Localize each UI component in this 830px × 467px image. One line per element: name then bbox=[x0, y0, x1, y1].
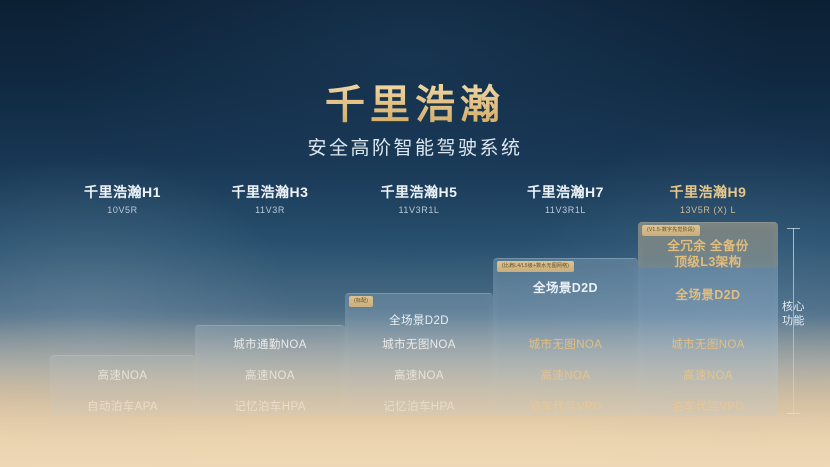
column-tag-5: (V1.5-数字先觉阶段) bbox=[642, 225, 700, 236]
feature-cell: 城市通勤NOA bbox=[195, 336, 345, 352]
feature-cell: 城市无图NOA bbox=[493, 336, 638, 352]
column-header-5: 千里浩瀚H913V5R (X) L bbox=[638, 182, 778, 215]
column-name: 千里浩瀚H7 bbox=[493, 182, 638, 202]
core-function-label: 核心 功能 bbox=[782, 300, 808, 328]
feature-cell: 自动泊车APA bbox=[50, 398, 195, 414]
column-name: 千里浩瀚H1 bbox=[50, 182, 195, 202]
core-function-label-line2: 功能 bbox=[782, 314, 808, 328]
page-subtitle: 安全高阶智能驾驶系统 bbox=[0, 133, 830, 160]
feature-cell: 高速NOA bbox=[345, 367, 493, 383]
axis-cap-bottom bbox=[787, 413, 800, 414]
feature-cell: 高速NOA bbox=[638, 367, 778, 383]
column-name: 千里浩瀚H9 bbox=[638, 182, 778, 202]
slide-canvas: 千里浩瀚 安全高阶智能驾驶系统 千里浩瀚H110V5R高速NOA自动泊车APA千… bbox=[0, 0, 830, 467]
page-title: 千里浩瀚 bbox=[0, 72, 830, 130]
column-tag-4: (比肩L4/L5级+数水无图网络) bbox=[497, 261, 574, 272]
column-spec: 10V5R bbox=[50, 205, 195, 215]
column-tag-3: (标配) bbox=[349, 296, 373, 307]
column-name: 千里浩瀚H3 bbox=[195, 182, 345, 202]
feature-cell: 高速NOA bbox=[195, 367, 345, 383]
feature-cell: 全场景D2D bbox=[638, 284, 778, 303]
feature-cell: 高速NOA bbox=[50, 367, 195, 383]
axis-cap-top bbox=[787, 228, 800, 229]
column-name: 千里浩瀚H5 bbox=[345, 182, 493, 202]
h9-redundancy-line2: 顶级L3架构 bbox=[638, 251, 778, 270]
feature-cell: 全场景D2D bbox=[345, 312, 493, 328]
feature-cell: 城市无图NOA bbox=[345, 336, 493, 352]
column-spec: 13V5R (X) L bbox=[638, 205, 778, 215]
column-spec: 11V3R bbox=[195, 205, 345, 215]
core-function-label-line1: 核心 bbox=[782, 300, 808, 314]
feature-cell: 泊车代驾VPD bbox=[493, 398, 638, 414]
feature-cell: 全场景D2D bbox=[493, 277, 638, 296]
column-header-3: 千里浩瀚H511V3R1L bbox=[345, 182, 493, 215]
column-header-1: 千里浩瀚H110V5R bbox=[50, 182, 195, 215]
column-header-2: 千里浩瀚H311V3R bbox=[195, 182, 345, 215]
feature-cell: 高速NOA bbox=[493, 367, 638, 383]
feature-cell: 记忆泊车HPA bbox=[195, 398, 345, 414]
column-spec: 11V3R1L bbox=[345, 205, 493, 215]
feature-cell: 泊车代驾VPD bbox=[638, 398, 778, 414]
feature-cell: 记忆泊车HPA bbox=[345, 398, 493, 414]
feature-cell: 城市无图NOA bbox=[638, 336, 778, 352]
column-header-4: 千里浩瀚H711V3R1L bbox=[493, 182, 638, 215]
column-spec: 11V3R1L bbox=[493, 205, 638, 215]
